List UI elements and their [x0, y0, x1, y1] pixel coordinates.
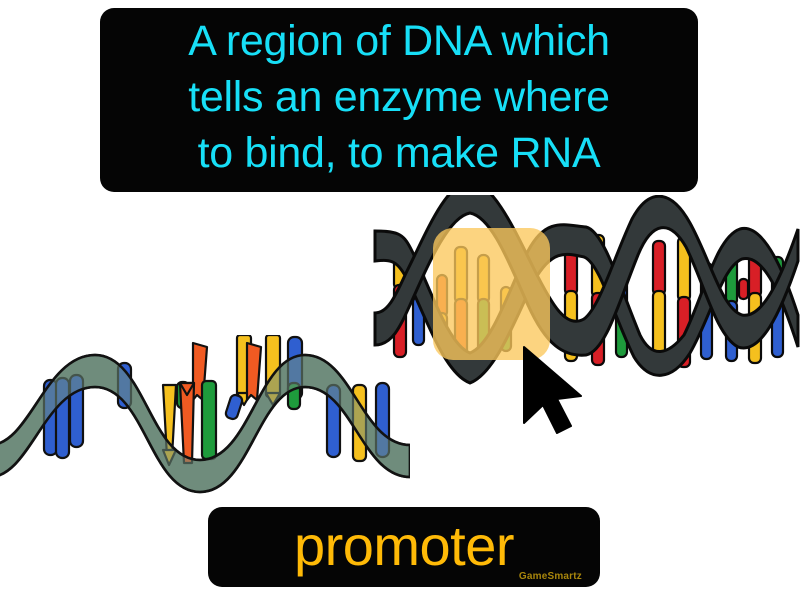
term-card: promoter GameSmartz — [208, 507, 600, 587]
promoter-region-highlight[interactable] — [433, 228, 550, 360]
left-dna-strand — [0, 335, 410, 492]
definition-card: A region of DNA which tells an enzyme wh… — [100, 8, 698, 192]
dna-illustration — [0, 195, 800, 515]
watermark-label: GameSmartz — [519, 571, 582, 582]
definition-text: A region of DNA which tells an enzyme wh… — [188, 13, 610, 181]
